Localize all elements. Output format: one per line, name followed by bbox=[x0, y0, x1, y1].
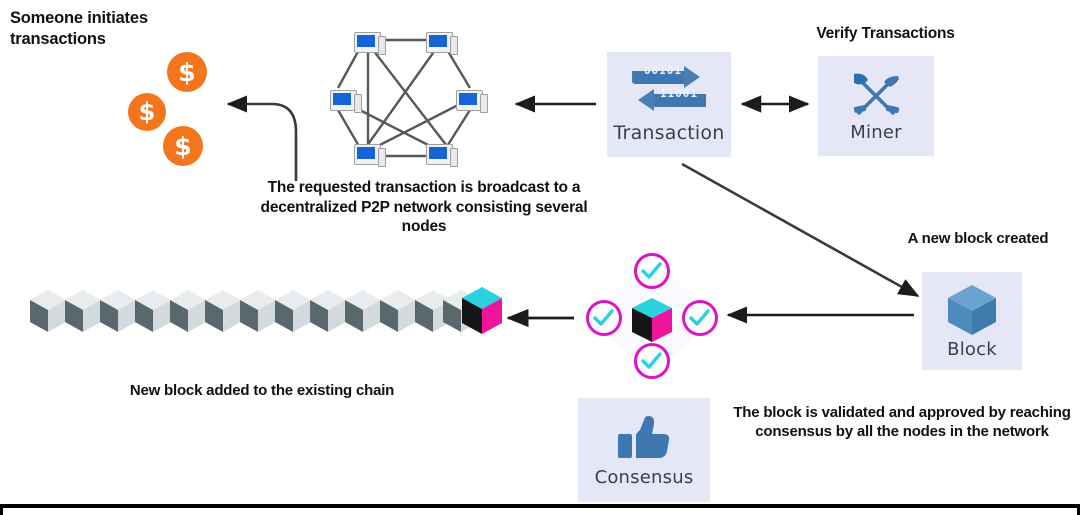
chain-cube bbox=[275, 290, 311, 332]
check-icon bbox=[685, 303, 714, 332]
block-box[interactable]: Block bbox=[922, 272, 1022, 370]
miner-box[interactable]: Miner bbox=[818, 56, 934, 156]
transaction-bits-in: 11001 bbox=[660, 87, 698, 100]
chain-cube bbox=[135, 290, 171, 332]
check-icon bbox=[589, 303, 618, 332]
chain-cube bbox=[205, 290, 241, 332]
miner-label: Miner bbox=[850, 122, 901, 143]
pickaxe-hammer-icon bbox=[848, 70, 904, 120]
chain-cube bbox=[240, 290, 276, 332]
thumbs-up-icon bbox=[614, 412, 674, 464]
consensus-check-right bbox=[682, 300, 718, 336]
chain-cube bbox=[310, 290, 346, 332]
check-icon bbox=[637, 346, 666, 375]
block-label: Block bbox=[947, 339, 997, 360]
chain-cube bbox=[345, 290, 381, 332]
arrow-to-coins bbox=[228, 104, 296, 181]
chain-cube bbox=[380, 290, 416, 332]
chain-cube bbox=[65, 290, 101, 332]
consensus-check-left bbox=[586, 300, 622, 336]
transaction-box[interactable]: 00101 11001 Transaction bbox=[607, 52, 731, 157]
consensus-center-cube-icon bbox=[628, 296, 680, 346]
chain-cube bbox=[170, 290, 206, 332]
blockchain-chain bbox=[26, 286, 506, 348]
blockchain-diagram: Someone initiates transactions The reque… bbox=[0, 0, 1080, 515]
chain-cube bbox=[100, 290, 136, 332]
left-border-tick bbox=[0, 504, 3, 515]
transaction-bits-out: 00101 bbox=[644, 64, 682, 77]
consensus-check-bottom bbox=[634, 343, 670, 379]
chain-cube bbox=[30, 290, 66, 332]
cube-icon bbox=[942, 282, 1002, 338]
consensus-label: Consensus bbox=[595, 467, 694, 488]
consensus-check-top bbox=[634, 253, 670, 289]
bottom-border bbox=[0, 504, 1080, 508]
check-icon bbox=[637, 256, 666, 285]
transaction-label: Transaction bbox=[614, 122, 725, 144]
consensus-box[interactable]: Consensus bbox=[578, 398, 710, 502]
